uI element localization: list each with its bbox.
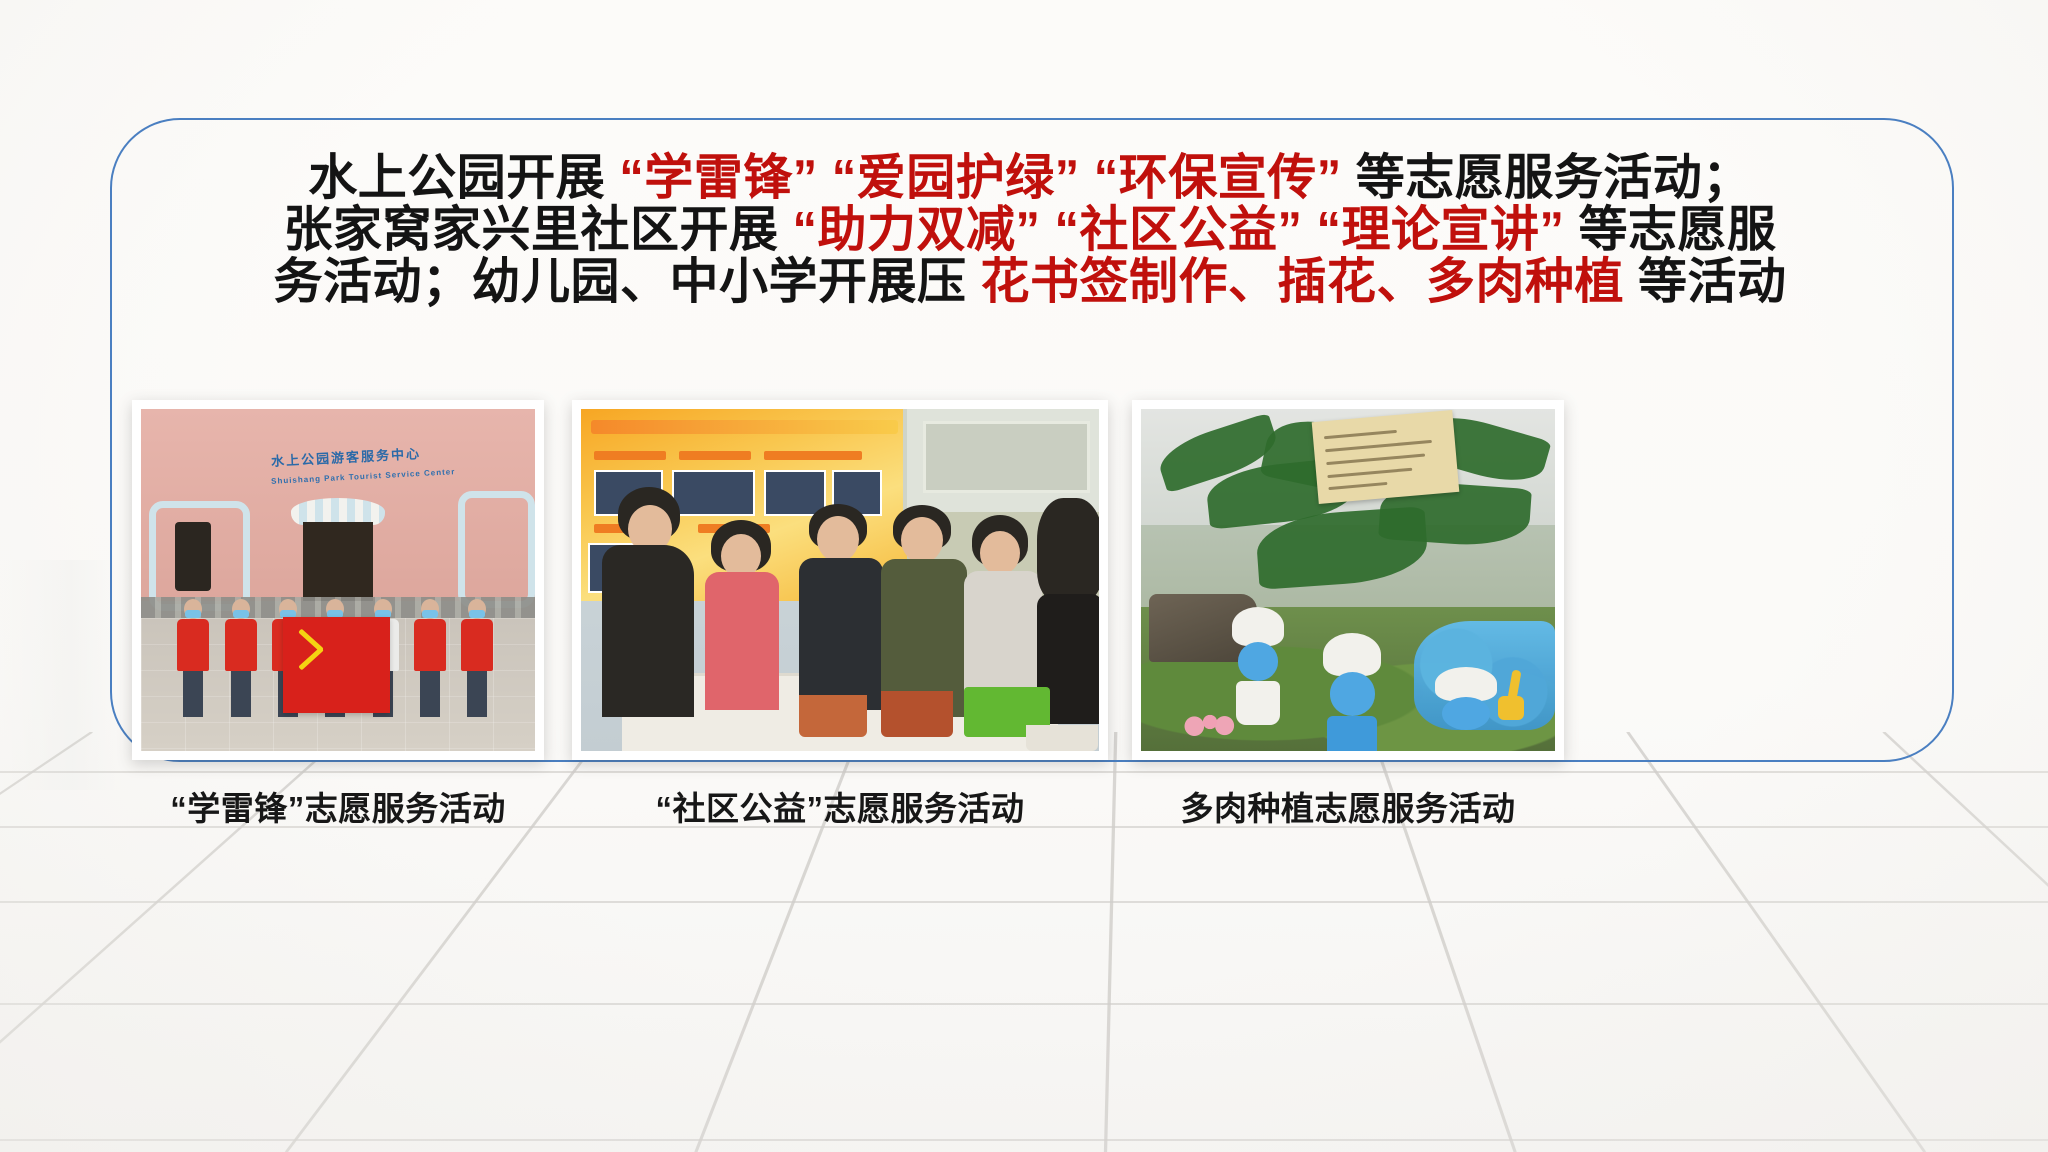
board-label — [594, 451, 666, 460]
smurf-figurine — [1232, 607, 1284, 703]
title-run-red: “学雷锋” — [619, 151, 818, 205]
giraffe-body — [1498, 696, 1524, 720]
pink-flower-cluster — [1182, 707, 1238, 737]
title-run-black: 等志愿服务活动； — [1356, 151, 1752, 205]
title-run-black: 水上公园开展 — [308, 151, 605, 205]
smurf-figurine — [1435, 667, 1497, 751]
wall-ornament-left — [149, 501, 250, 611]
title-line-2: 张家窝家兴里社区开展“助力双减”“社区公益”“理论宣讲”等志愿服 — [150, 204, 1910, 256]
volunteer-person — [224, 599, 258, 717]
photo-frame-3 — [1132, 400, 1564, 760]
smurf-body — [1327, 716, 1377, 751]
smurf-figurine — [1323, 633, 1381, 741]
photo-frame-2 — [572, 400, 1108, 760]
title-run-red: “环保宣传” — [1094, 151, 1342, 205]
note-line — [1326, 453, 1424, 465]
title-run-red: 花书签制作、插花、多肉种植 — [980, 255, 1624, 309]
title-run-red: “爱园护绿” — [832, 151, 1080, 205]
giraffe-figurine — [1496, 666, 1530, 720]
slide-title: 水上公园开展“学雷锋”“爱园护绿”“环保宣传”等志愿服务活动；张家窝家兴里社区开… — [150, 152, 1910, 308]
wall-cabinet — [903, 409, 1099, 512]
title-run-red: “社区公益” — [1054, 203, 1302, 257]
participant-person — [881, 505, 967, 717]
smurf-body — [1236, 681, 1281, 725]
volunteer-person — [460, 599, 494, 717]
flower-pot — [799, 695, 867, 737]
participant-person — [602, 487, 694, 717]
title-line-1: 水上公园开展“学雷锋”“爱园护绿”“环保宣传”等志愿服务活动； — [150, 152, 1910, 204]
photo-image-succulent-terrarium — [1141, 409, 1555, 751]
volunteer-person — [413, 599, 447, 717]
note-line — [1325, 440, 1432, 452]
party-flag — [283, 617, 390, 713]
note-line — [1324, 429, 1397, 438]
flower-pot — [881, 691, 953, 737]
smurf-face — [1238, 642, 1279, 680]
title-run-black: 务活动；幼儿园、中小学开展压 — [273, 255, 966, 309]
smurf-face — [1330, 672, 1375, 715]
photo-image-community-planting — [581, 409, 1099, 751]
title-run-black: 等活动 — [1638, 255, 1787, 309]
title-run-red: “理论宣讲” — [1317, 203, 1565, 257]
photo-card-2[interactable]: “社区公益”志愿服务活动 — [572, 400, 1108, 760]
title-line-3: 务活动；幼儿园、中小学开展压花书签制作、插花、多肉种植等活动 — [150, 256, 1910, 308]
photo-caption-2: “社区公益”志愿服务活动 — [572, 782, 1108, 830]
photo-caption-1: “学雷锋”志愿服务活动 — [132, 782, 544, 830]
note-line — [1328, 481, 1387, 489]
seedling-tray — [1026, 725, 1098, 751]
title-run-black: 等志愿服 — [1579, 203, 1777, 257]
board-label — [679, 451, 751, 460]
participant-person — [705, 520, 779, 710]
volunteer-person — [176, 599, 210, 717]
note-line — [1327, 468, 1411, 478]
photo-image-volunteers-flag: 水上公园游客服务中心 Shuishang Park Tourist Servic… — [141, 409, 535, 751]
smurf-face — [1442, 697, 1490, 731]
photo-caption-3: 多肉种植志愿服务活动 — [1132, 782, 1564, 830]
board-label — [764, 451, 862, 460]
smurf-hat — [1232, 607, 1284, 645]
handwritten-note-card — [1312, 410, 1459, 504]
wall-ornament-right — [458, 491, 535, 608]
smurf-hat — [1323, 633, 1381, 676]
hammer-sickle-emblem — [294, 633, 335, 677]
smurf-hat — [1435, 667, 1497, 701]
photo-card-3[interactable]: 多肉种植志愿服务活动 — [1132, 400, 1564, 760]
photo-frame-1: 水上公园游客服务中心 Shuishang Park Tourist Servic… — [132, 400, 544, 760]
photo-row: 水上公园游客服务中心 Shuishang Park Tourist Servic… — [132, 400, 1932, 870]
participant-person — [799, 504, 883, 710]
entrance-door — [303, 522, 374, 601]
board-header-strip — [591, 420, 898, 433]
title-run-red: “助力双减” — [792, 203, 1040, 257]
photo-card-1[interactable]: 水上公园游客服务中心 Shuishang Park Tourist Servic… — [132, 400, 544, 760]
title-run-black: 张家窝家兴里社区开展 — [283, 203, 778, 257]
